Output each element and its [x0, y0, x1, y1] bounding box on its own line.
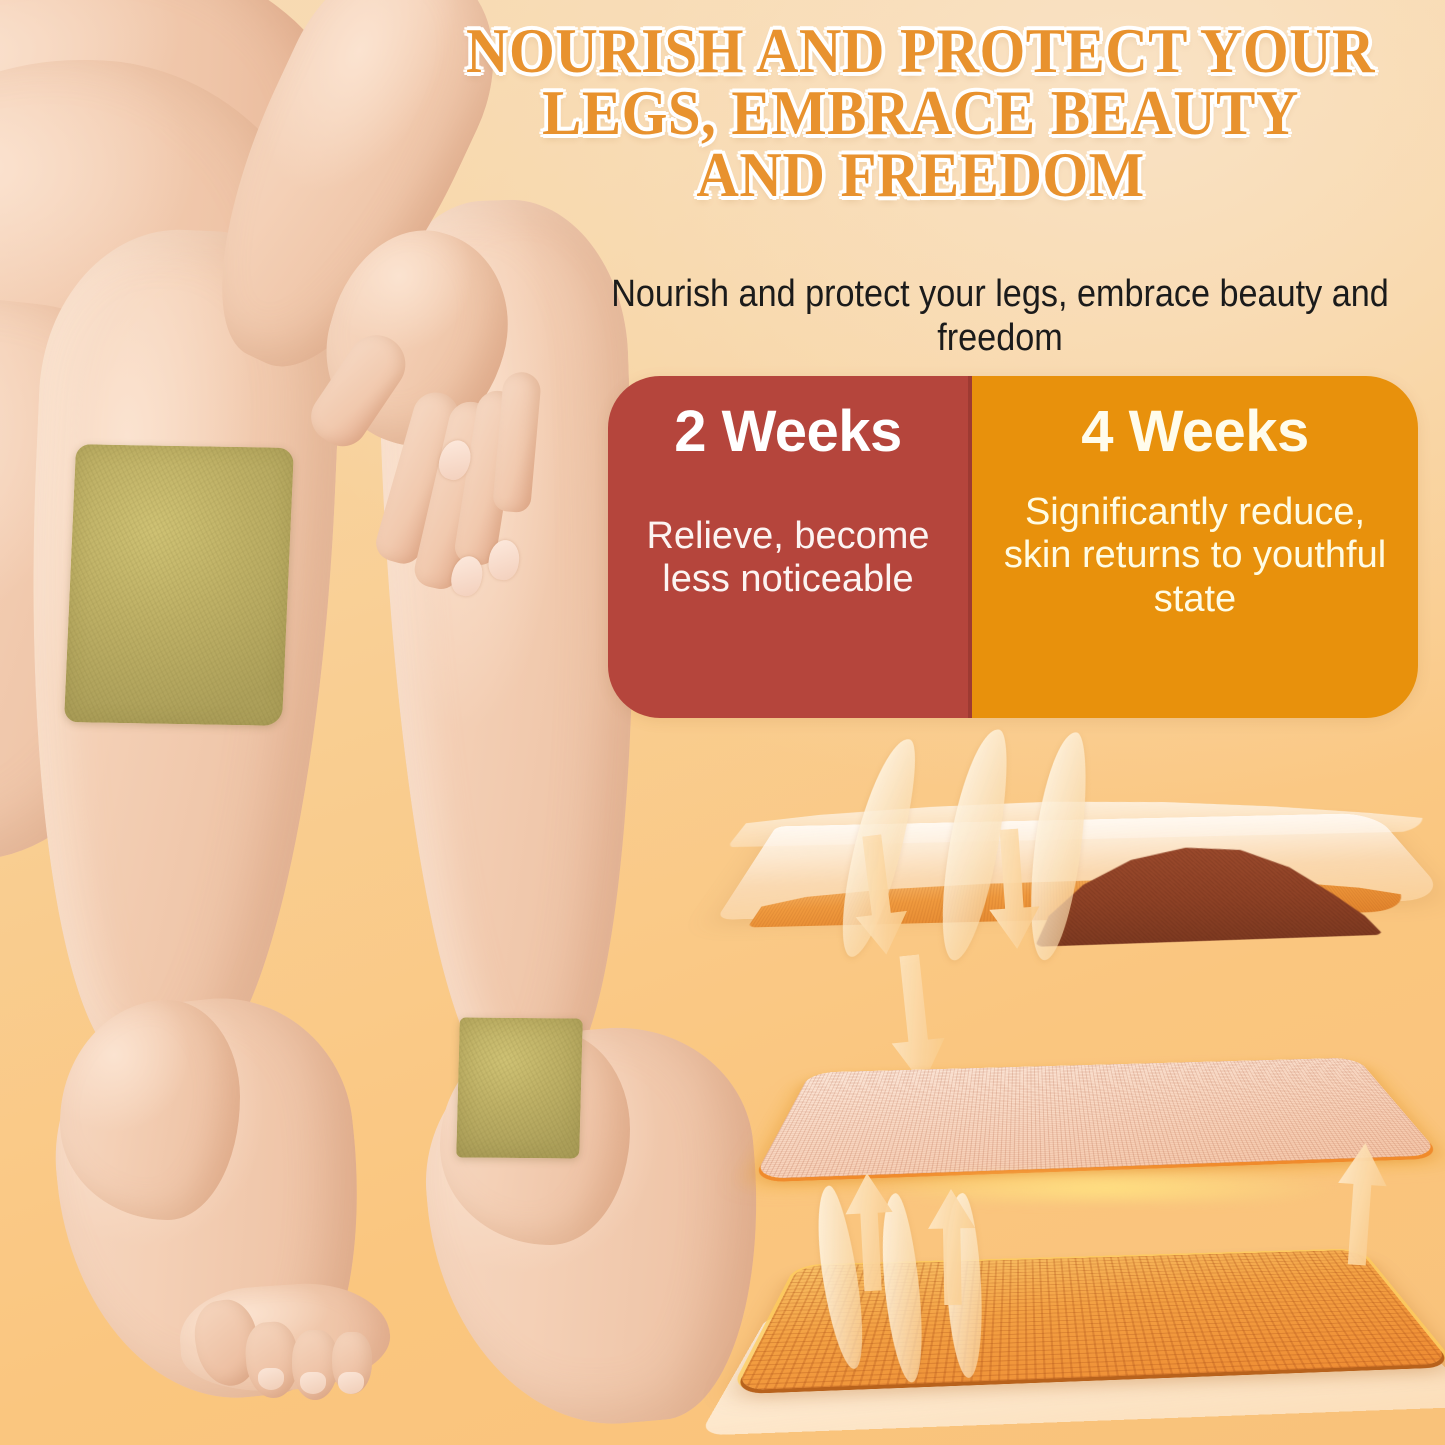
legs-photograph	[0, 0, 760, 1445]
headline-line-1: NOURISH AND PROTECT YOUR	[449, 20, 1392, 82]
toenail	[300, 1372, 326, 1394]
subtitle: Nourish and protect your legs, embrace b…	[604, 272, 1396, 361]
panel-2-weeks-title: 2 Weeks	[626, 402, 950, 463]
release-arrow-up-icon	[1325, 1141, 1397, 1267]
ankle-patch	[456, 1017, 583, 1158]
panel-2-weeks-description: Relieve, become less noticeable	[626, 515, 950, 602]
panel-4-weeks-title: 4 Weeks	[990, 402, 1400, 463]
panel-2-weeks: 2 Weeks Relieve, become less noticeable	[608, 376, 968, 718]
headline-line-3: AND FREEDOM	[449, 144, 1392, 206]
page-title: NOURISH AND PROTECT YOUR LEGS, EMBRACE B…	[449, 20, 1392, 206]
toenail	[338, 1372, 364, 1394]
left-heel	[60, 1000, 240, 1220]
absorption-arrow-down-icon	[874, 952, 957, 1089]
panel-4-weeks: 4 Weeks Significantly reduce, skin retur…	[968, 376, 1418, 718]
panel-4-weeks-description: Significantly reduce, skin returns to yo…	[990, 491, 1400, 621]
headline-line-2: LEGS, EMBRACE BEAUTY	[449, 82, 1392, 144]
toenail	[258, 1368, 284, 1390]
timeline-comparison-card: 2 Weeks Relieve, become less noticeable …	[608, 376, 1418, 718]
breathable-mesh-layer	[753, 1058, 1440, 1179]
mesh-glow-edge	[825, 1173, 1365, 1203]
product-marketing-poster: NOURISH AND PROTECT YOUR LEGS, EMBRACE B…	[0, 0, 1445, 1445]
patch-layer-diagram	[735, 745, 1435, 1385]
calf-patch	[64, 444, 294, 726]
